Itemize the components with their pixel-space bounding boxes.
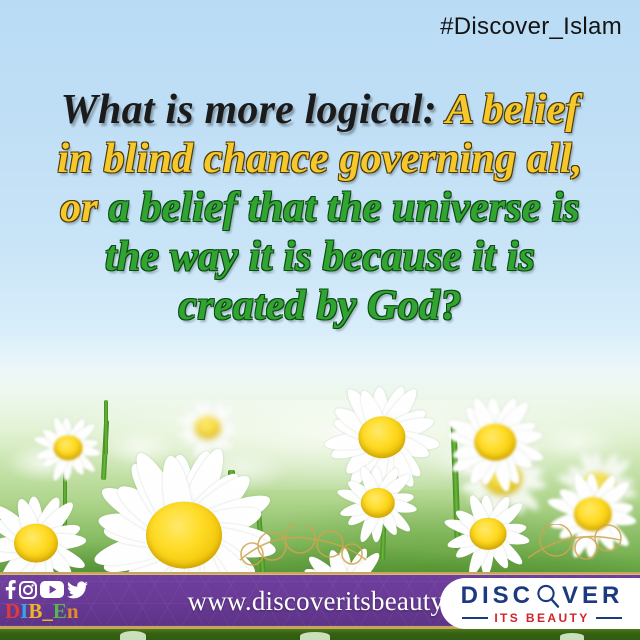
quote-text: What is more logical: A beliefin blind c…: [0, 86, 640, 331]
daisy-core: [470, 518, 507, 550]
quote-token: What is more logical:: [61, 87, 437, 133]
twitter-icon[interactable]: [67, 581, 88, 599]
daisy-core: [474, 424, 516, 461]
quote-line: created by God?: [12, 282, 628, 331]
handle-letter: D: [5, 601, 20, 622]
daisy-flower: [530, 466, 640, 562]
quote-line: in blind chance governing all,: [12, 135, 628, 184]
footer-banner: DIB_En www.discoveritsbeauty.com DISC VE…: [0, 572, 640, 629]
quote-token: in blind chance governing all,: [57, 136, 582, 182]
daisy-core: [146, 502, 222, 569]
daisy-core: [358, 416, 405, 458]
social-handle: DIB_En: [5, 601, 79, 622]
magnifier-icon: [535, 583, 561, 609]
instagram-icon[interactable]: [19, 581, 37, 599]
daisy-core: [574, 497, 612, 531]
handle-letter: E: [53, 601, 67, 622]
logo-subtitle-text: ITS BEAUTY: [494, 611, 589, 625]
handle-letter: _: [42, 601, 53, 622]
quote-line: What is more logical: A belief: [12, 86, 628, 135]
facebook-icon[interactable]: [5, 580, 16, 599]
logo-rule-right: [596, 617, 622, 619]
daisy-core: [14, 524, 58, 563]
quote-token: the way it is because it is: [105, 234, 535, 280]
hashtag-label: #Discover_Islam: [440, 13, 622, 41]
poster-canvas: #Discover_Islam What is more logical: A …: [0, 0, 640, 640]
handle-letter: I: [20, 601, 28, 622]
quote-line: or a belief that the universe is: [12, 184, 628, 233]
logo-word-post: VER: [562, 584, 623, 608]
quote-token: A belief: [446, 87, 579, 133]
handle-letter: B: [28, 601, 42, 622]
youtube-icon[interactable]: [40, 581, 64, 598]
discover-logo[interactable]: DISC VER ITS BEAUTY: [440, 578, 640, 629]
quote-token: created by God?: [179, 283, 462, 329]
logo-rule-left: [462, 617, 488, 619]
quote-token: a belief that the universe is: [109, 185, 580, 231]
logo-word-pre: DISC: [461, 584, 534, 608]
discover-logo-wordmark: DISC VER: [461, 583, 624, 609]
social-and-handle-block: DIB_En: [0, 575, 104, 626]
quote-token: or: [60, 185, 98, 231]
handle-letter: n: [67, 601, 79, 622]
social-icons-row[interactable]: [5, 580, 88, 600]
discover-logo-subtitle: ITS BEAUTY: [462, 611, 621, 625]
bottom-foliage-strip: [0, 629, 640, 640]
quote-line: the way it is because it is: [12, 233, 628, 282]
daisy-flower: [318, 460, 438, 546]
